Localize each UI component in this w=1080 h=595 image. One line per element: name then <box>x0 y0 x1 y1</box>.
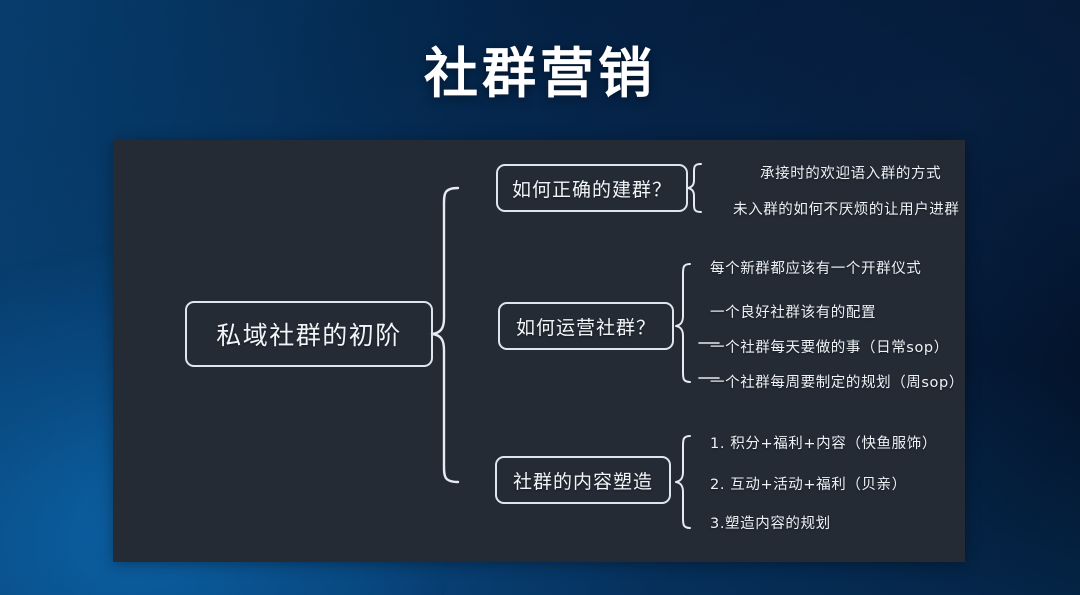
branch-2-brace <box>676 264 690 382</box>
mindmap-branch-label-2: 如何运营社群？ <box>516 313 656 340</box>
mindmap-leaf-item: 每个新群都应该有一个开群仪式 <box>710 257 921 278</box>
mindmap-branch-node-3[interactable]: 社群的内容塑造 <box>495 456 671 504</box>
mindmap-leaf-item: 1. 积分+福利+内容（快鱼服饰） <box>710 432 937 453</box>
mindmap-leaf-item: 3.塑造内容的规划 <box>710 512 831 533</box>
mindmap-leaf-item: 一个良好社群该有的配置 <box>710 301 876 322</box>
mindmap-leaf-item: 未入群的如何不厌烦的让用户进群 <box>733 198 960 219</box>
mindmap-branch-label-3: 社群的内容塑造 <box>513 467 653 494</box>
mindmap-branch-node-1[interactable]: 如何正确的建群？ <box>496 164 688 212</box>
page-title: 社群营销 <box>0 44 1080 103</box>
root-brace <box>432 188 458 482</box>
mindmap-branch-label-1: 如何正确的建群？ <box>512 175 672 202</box>
branch-1-brace <box>688 164 701 212</box>
mindmap-root-label: 私域社群的初阶 <box>216 316 402 352</box>
mindmap-leaf-item: 承接时的欢迎语入群的方式 <box>760 162 941 183</box>
presentation-slide: 社群营销 私域社群的初阶 如何正确的建群？ 如何运营社群？ 社群的内容塑造 <box>0 0 1080 595</box>
mindmap-leaf-item: 2. 互动+活动+福利（贝亲） <box>710 473 907 494</box>
mindmap-panel: 私域社群的初阶 如何正确的建群？ 如何运营社群？ 社群的内容塑造 承接时的欢迎语… <box>113 140 965 562</box>
mindmap-leaf-item: 一个社群每周要制定的规划（周sop） <box>710 371 964 392</box>
mindmap-leaf-item: 一个社群每天要做的事（日常sop） <box>710 336 949 357</box>
mindmap-branch-node-2[interactable]: 如何运营社群？ <box>498 302 674 350</box>
mindmap-root-node[interactable]: 私域社群的初阶 <box>185 301 433 367</box>
branch-3-brace <box>676 436 690 528</box>
